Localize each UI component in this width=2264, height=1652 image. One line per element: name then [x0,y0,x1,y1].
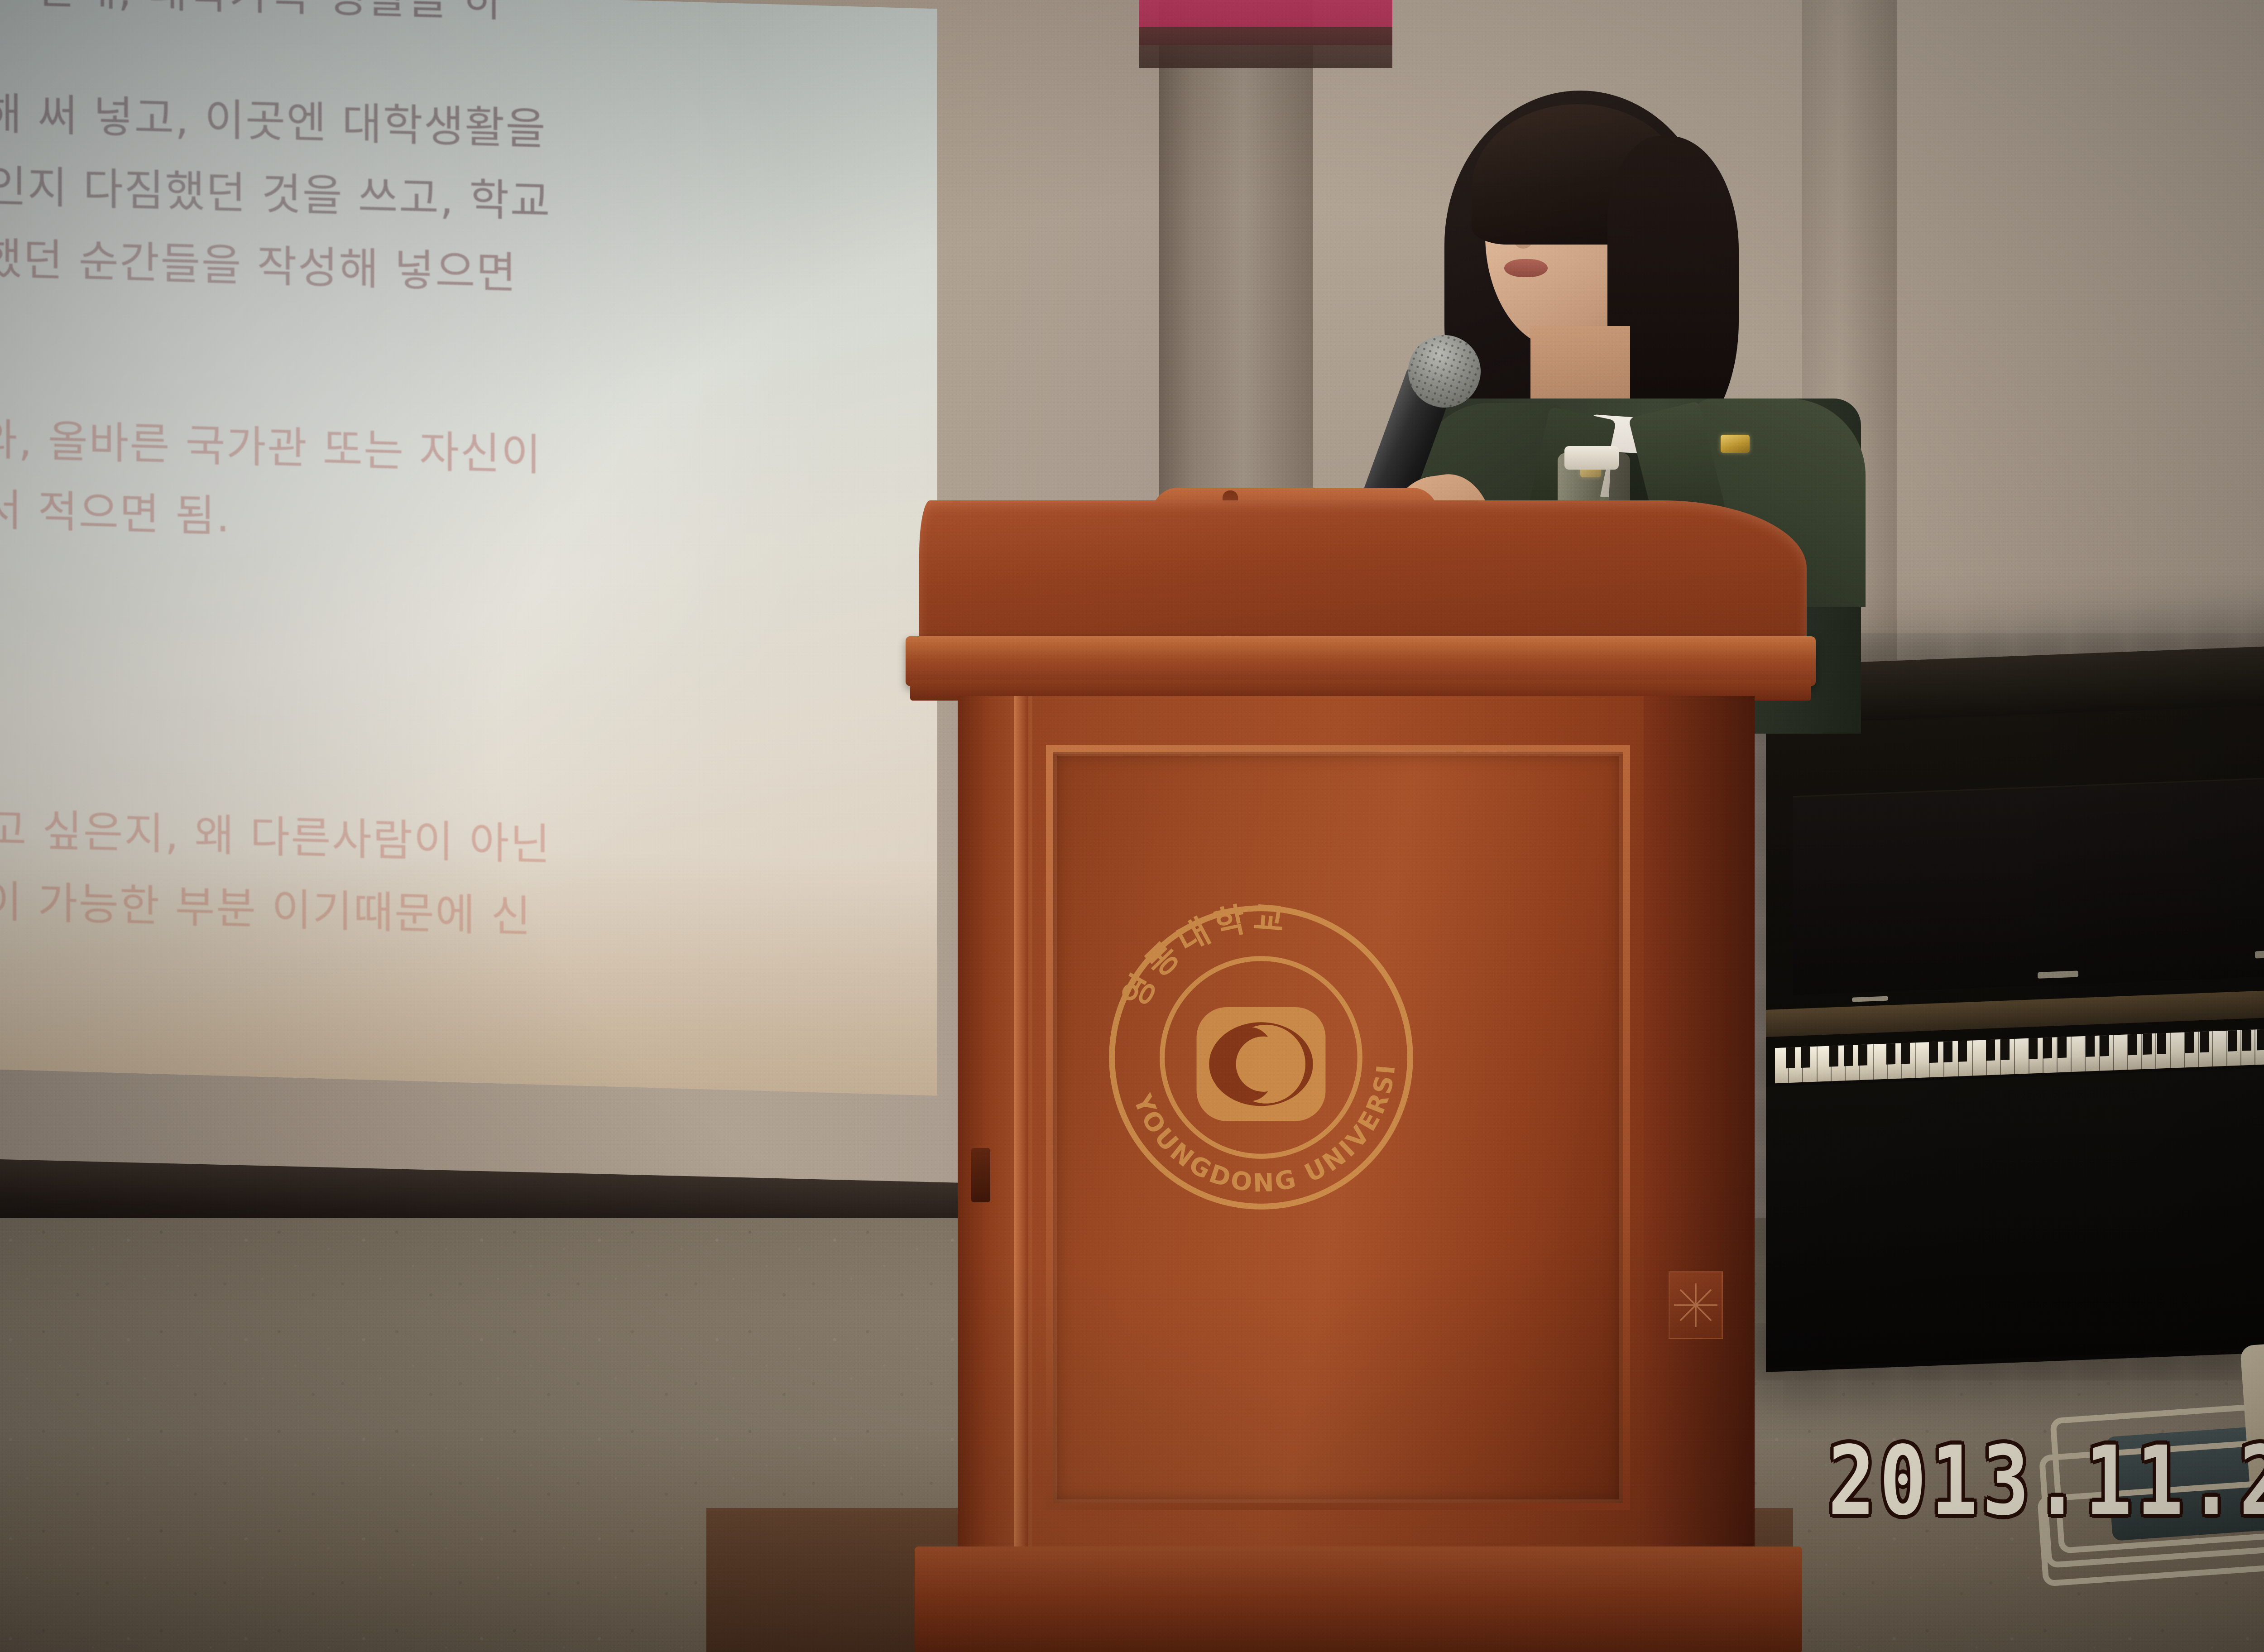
slide-line-0: 관해, 대학가족 생활을 하 [36,0,504,24]
lectern-post-left-trim [1014,696,1028,1556]
upright-piano [1766,638,2264,1372]
lectern-molding-upper [906,636,1816,686]
shoulder-insignia-right [1721,435,1750,453]
slide-line-3: 회했던 순간들을 작성해 넣으면 [0,235,517,296]
slide-line-2: 것인지 다짐했던 것을 쓰고, 학교 [0,162,551,225]
starburst-rosette-icon [1669,1271,1723,1339]
university-seal: 영동대학교 YOUNGDONG UNIVERSITY [1094,890,1429,1225]
slide-line-5: 해서 적으면 됨. [0,486,230,540]
photograph-canvas: 관해, 대학가족 생활을 하 관해 써 넣고, 이곳엔 대학생활을 것인지 다짐… [0,0,2264,1652]
piano-reflection-3 [1852,996,1888,1002]
slide-line-4: 고와, 올바른 국가관 또는 자신이 [0,416,542,478]
lips [1504,259,1548,277]
lectern-base [915,1546,1802,1652]
water-bottle-cap [1564,446,1619,470]
projection-screen: 관해, 대학가족 생활을 하 관해 써 넣고, 이곳엔 대학생활을 것인지 다짐… [0,0,937,1095]
lectern-reading-top [919,500,1807,650]
slide-line-1: 관해 써 넣고, 이곳엔 대학생활을 [0,90,547,152]
lectern-hinge [971,1148,990,1202]
camera-date-stamp: 2013.11.22 [1828,1426,2264,1537]
piano-front-panel [1793,770,2264,995]
lectern-post-right [1644,696,1755,1556]
screen-bottom-fade [0,833,937,1095]
